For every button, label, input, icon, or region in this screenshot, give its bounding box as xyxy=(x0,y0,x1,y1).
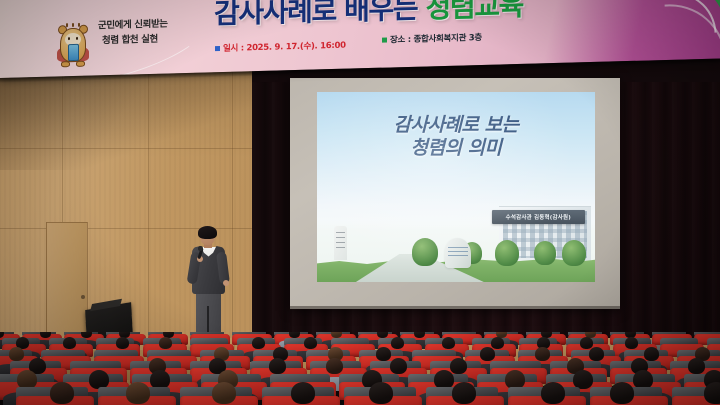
audience-member-head xyxy=(580,337,593,349)
audience-member-head xyxy=(159,337,172,349)
tiger-mascot-icon xyxy=(56,22,90,69)
presenter-hair xyxy=(198,226,217,239)
banner-slogan-line1: 군민에게 신뢰받는 xyxy=(98,17,168,34)
banner-place-text: 장소 : 종합사회복지관 3층 xyxy=(390,33,482,45)
banner-headline-part2: 청렴교육 xyxy=(426,0,523,24)
audience-member-head xyxy=(291,382,315,404)
audience-member-head xyxy=(326,358,343,374)
audience-member-head xyxy=(9,347,24,361)
audience-member-head xyxy=(452,382,476,404)
banner-headline: 감사사례로 배우는 청렴교육 xyxy=(214,0,523,28)
audience-member-head xyxy=(450,358,467,374)
audience-member-head xyxy=(610,382,634,404)
audience-member-head xyxy=(269,358,286,374)
door-knob-icon xyxy=(81,295,85,299)
tree-icon xyxy=(562,240,586,266)
audience-member-head xyxy=(212,382,236,404)
tree-icon xyxy=(534,241,556,265)
monument-stone-illustration xyxy=(445,238,471,268)
microphone-head-icon xyxy=(198,246,203,251)
audience-member-head xyxy=(541,382,565,404)
slide-landscape-illustration xyxy=(317,220,595,282)
slide-title: 감사사례로 보는 청렴의 의미 xyxy=(317,114,595,160)
bullet-icon xyxy=(382,38,387,43)
audience-member-head xyxy=(688,358,705,374)
audience-member-head xyxy=(625,337,638,349)
presentation-slide: 감사사례로 보는 청렴의 의미 xyxy=(317,92,595,282)
stele-inscription xyxy=(336,232,345,248)
audience-member-head xyxy=(535,347,550,361)
audience-member-head xyxy=(390,358,407,374)
audience-member-head xyxy=(304,337,317,349)
projection-screen: 감사사례로 보는 청렴의 의미 xyxy=(290,78,620,309)
organization-logo-icon xyxy=(2,27,28,48)
slide-title-line1: 감사사례로 보는 xyxy=(394,114,519,136)
audience-member-head xyxy=(589,347,604,361)
stage-side-door[interactable] xyxy=(46,222,88,350)
audience-seating xyxy=(0,332,720,405)
tree-icon xyxy=(412,238,438,266)
audience-member-head xyxy=(116,337,129,349)
banner-date-info: 일시 : 2025. 9. 17.(수). 16:00 xyxy=(215,39,346,55)
audience-member-head xyxy=(63,337,76,349)
audience-member-head xyxy=(480,347,495,361)
audience-member-head xyxy=(369,382,393,404)
slide-title-line2: 청렴의 의미 xyxy=(317,137,595,160)
banner-date-text: 일시 : 2025. 9. 17.(수). 16:00 xyxy=(223,41,346,54)
banner-place-info: 장소 : 종합사회복지관 3층 xyxy=(382,31,482,46)
audience-member-head xyxy=(50,382,74,404)
banner-headline-part1: 감사사례로 배우는 xyxy=(214,0,417,30)
tree-icon xyxy=(495,240,519,266)
banner-slogan: 군민에게 신뢰받는 청렴 합천 실현 xyxy=(98,17,168,48)
audience-member-head xyxy=(252,337,265,349)
audience-member-head xyxy=(376,347,391,361)
auditorium-scene: 감사사례로 보는 청렴의 의미 xyxy=(0,0,720,405)
audience-member-head xyxy=(491,337,504,349)
bullet-icon xyxy=(215,46,220,51)
audience-member-head xyxy=(391,337,404,349)
audience-member-head xyxy=(126,382,150,404)
presenter-name-badge: 수석감사관 김동혁(감사원) xyxy=(492,210,585,224)
audience-member-head xyxy=(442,337,455,349)
stone-stele-illustration xyxy=(334,226,347,260)
monument-inscription xyxy=(448,247,468,256)
audience-member-head xyxy=(644,347,659,361)
screen-bottom-edge xyxy=(290,306,620,309)
audience-member-head xyxy=(704,382,720,404)
banner-slogan-line2: 청렴 합천 실현 xyxy=(98,32,168,49)
